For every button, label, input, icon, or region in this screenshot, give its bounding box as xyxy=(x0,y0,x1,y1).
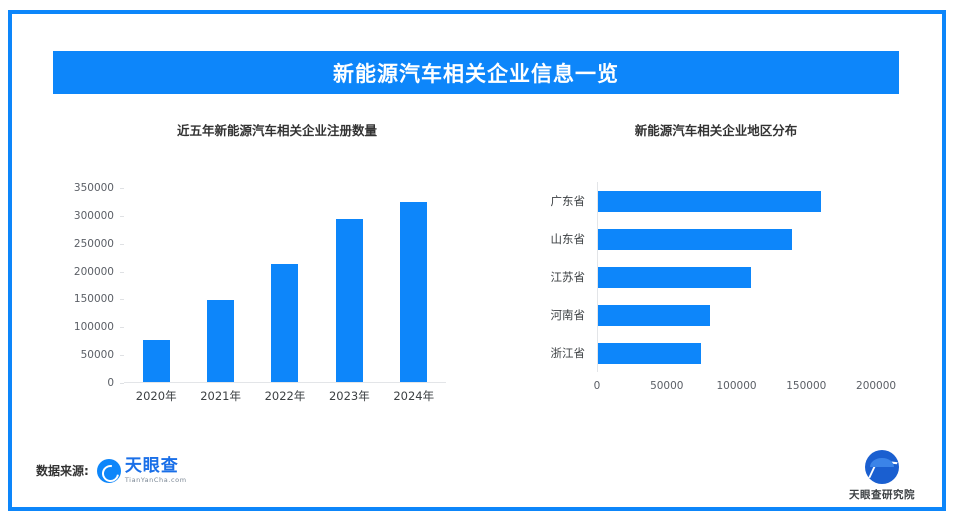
y-axis-tick-mark xyxy=(120,244,124,245)
horizontal-bar xyxy=(598,191,821,212)
x-axis-category-labels: 2020年2021年2022年2023年2024年 xyxy=(124,388,446,404)
region-label: 江苏省 xyxy=(500,269,597,285)
x-axis-category-label: 2023年 xyxy=(318,388,381,404)
y-axis-tick: 300000 xyxy=(74,210,114,222)
y-axis-tick: 200000 xyxy=(74,266,114,278)
y-axis-tick: 250000 xyxy=(74,238,114,250)
horizontal-bar-rows: 广东省山东省江苏省河南省浙江省 xyxy=(500,182,932,372)
tianyancha-eye-icon xyxy=(97,459,121,483)
y-axis-tick-mark xyxy=(120,188,124,189)
region-label: 山东省 xyxy=(500,231,597,247)
x-axis-tick-label: 200000 xyxy=(856,380,896,392)
tianyancha-brand-name: 天眼查 xyxy=(125,458,187,475)
horizontal-bar-row: 江苏省 xyxy=(500,258,932,296)
registration-count-chart-panel: 近五年新能源汽车相关企业注册数量 35000030000025000020000… xyxy=(48,120,488,420)
vertical-bar-column xyxy=(318,188,381,382)
x-axis-category-label: 2020年 xyxy=(125,388,188,404)
x-axis-tick-labels: 050000100000150000200000 xyxy=(597,372,897,400)
y-axis-tick-mark xyxy=(120,355,124,356)
horizontal-bar xyxy=(598,305,710,326)
page-title: 新能源汽车相关企业信息一览 xyxy=(333,58,619,88)
y-axis-tick-mark xyxy=(120,327,124,328)
y-axis-tick-mark xyxy=(120,383,124,384)
vertical-bar xyxy=(271,264,298,382)
chart-title-regions: 新能源汽车相关企业地区分布 xyxy=(500,120,932,139)
horizontal-bar-track xyxy=(597,220,932,258)
x-axis-category-label: 2022年 xyxy=(254,388,317,404)
vertical-bar-columns xyxy=(124,188,446,382)
horizontal-bar-track xyxy=(597,296,932,334)
chart-title-registrations: 近五年新能源汽车相关企业注册数量 xyxy=(48,120,488,139)
title-banner: 新能源汽车相关企业信息一览 xyxy=(53,51,899,94)
horizontal-bar-track xyxy=(597,334,932,372)
x-axis-category-label: 2021年 xyxy=(189,388,252,404)
vertical-bar-column xyxy=(382,188,445,382)
horizontal-bar-track xyxy=(597,258,932,296)
y-axis-tick: 150000 xyxy=(74,293,114,305)
vertical-bar xyxy=(143,340,170,382)
horizontal-bar-row: 河南省 xyxy=(500,296,932,334)
horizontal-bar-row: 山东省 xyxy=(500,220,932,258)
region-label: 浙江省 xyxy=(500,345,597,361)
horizontal-bar xyxy=(598,343,701,364)
vertical-bar xyxy=(400,202,427,383)
y-axis-tick-mark xyxy=(120,272,124,273)
tianyancha-logo: 天眼查 TianYanCha.com xyxy=(97,458,187,484)
institute-brand-name: 天眼查研究院 xyxy=(849,487,915,502)
region-distribution-chart-panel: 新能源汽车相关企业地区分布 广东省山东省江苏省河南省浙江省 0500001000… xyxy=(500,120,932,420)
vertical-bar xyxy=(336,219,363,382)
institute-mark-icon xyxy=(865,450,899,484)
tianyancha-wordmark: 天眼查 TianYanCha.com xyxy=(125,458,187,484)
y-axis-tick: 50000 xyxy=(81,349,114,361)
horizontal-bar-row: 广东省 xyxy=(500,182,932,220)
data-source-footer: 数据来源: 天眼查 TianYanCha.com xyxy=(36,458,187,484)
y-axis-tick-labels: 3500003000002500002000001500001000005000… xyxy=(48,188,120,383)
x-axis-tick-label: 150000 xyxy=(786,380,826,392)
region-label: 河南省 xyxy=(500,307,597,323)
vertical-bar xyxy=(207,300,234,382)
horizontal-bar-track xyxy=(597,182,932,220)
region-label: 广东省 xyxy=(500,193,597,209)
y-axis-tick: 350000 xyxy=(74,182,114,194)
y-axis-tick-mark xyxy=(120,216,124,217)
institute-logo: 天眼查研究院 xyxy=(836,450,928,502)
horizontal-bar-row: 浙江省 xyxy=(500,334,932,372)
y-axis-tick-mark xyxy=(120,299,124,300)
tianyancha-domain: TianYanCha.com xyxy=(125,477,187,484)
horizontal-bar-chart: 广东省山东省江苏省河南省浙江省 050000100000150000200000 xyxy=(500,182,932,422)
vertical-bar-column xyxy=(254,188,317,382)
vertical-bar-column xyxy=(189,188,252,382)
vertical-bar-column xyxy=(125,188,188,382)
x-axis-tick-label: 50000 xyxy=(650,380,683,392)
vertical-bar-chart: 3500003000002500002000001500001000005000… xyxy=(48,188,488,418)
horizontal-bar xyxy=(598,267,751,288)
x-axis-category-label: 2024年 xyxy=(382,388,445,404)
horizontal-bar xyxy=(598,229,792,250)
infographic-page: 新能源汽车相关企业信息一览 近五年新能源汽车相关企业注册数量 350000300… xyxy=(0,0,962,524)
x-axis-tick-label: 0 xyxy=(594,380,601,392)
y-axis-tick: 0 xyxy=(107,377,114,389)
x-axis-tick-label: 100000 xyxy=(716,380,756,392)
data-source-label: 数据来源: xyxy=(36,462,89,479)
vertical-bar-plot-area xyxy=(124,188,446,383)
y-axis-tick: 100000 xyxy=(74,321,114,333)
